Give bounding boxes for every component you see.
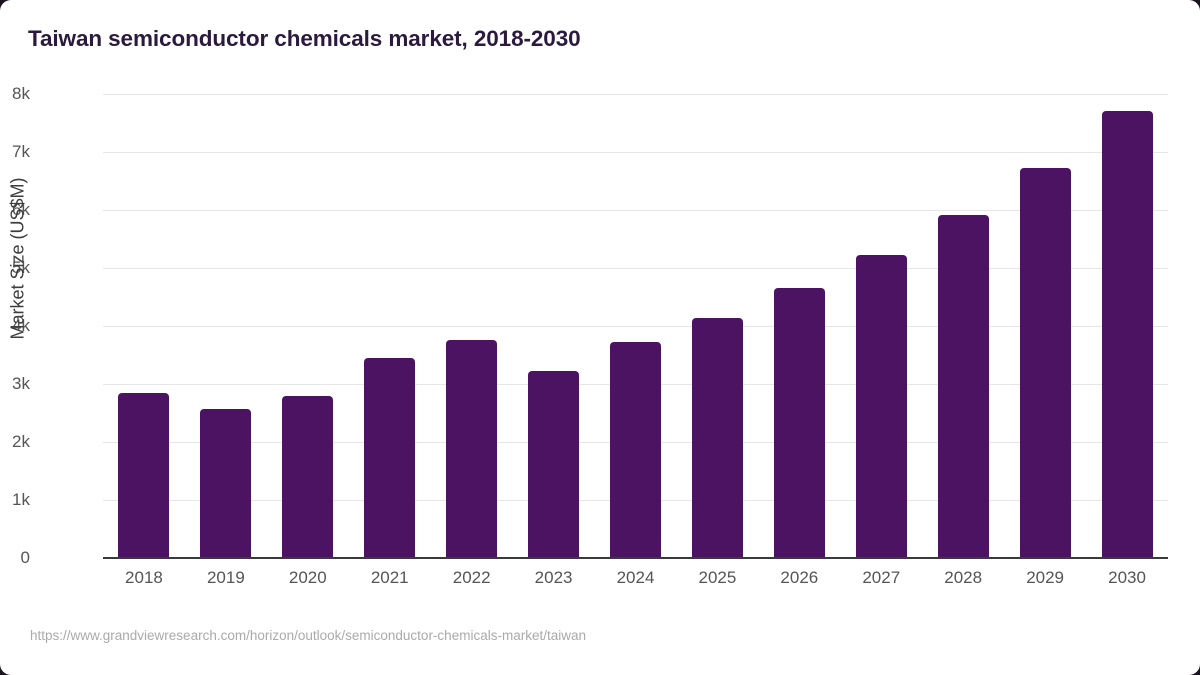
bar-slot [1086,94,1168,558]
x-tick-slot: 2028 [922,568,1004,588]
x-axis-tick-label: 2025 [699,568,737,587]
x-tick-slot: 2021 [349,568,431,588]
bar-slot [267,94,349,558]
x-tick-slot: 2027 [840,568,922,588]
bar[interactable] [118,393,169,558]
bar[interactable] [774,288,825,558]
x-tick-slot: 2018 [103,568,185,588]
x-tick-slot: 2026 [758,568,840,588]
x-axis-tick-label: 2023 [535,568,573,587]
y-axis-title: Market Size (US$M) [8,49,29,469]
x-tick-slot: 2022 [431,568,513,588]
bar-slot [185,94,267,558]
x-axis-tick-label: 2027 [862,568,900,587]
bar[interactable] [1020,168,1071,558]
bar-series [103,94,1168,558]
x-axis-tick-label: 2024 [617,568,655,587]
x-axis-tick-label: 2019 [207,568,245,587]
x-tick-slot: 2023 [513,568,595,588]
bar[interactable] [692,318,743,558]
bar-slot [595,94,677,558]
bar-slot [349,94,431,558]
bar[interactable] [364,358,415,558]
chart-canvas: Taiwan semiconductor chemicals market, 2… [0,0,1200,675]
x-tick-slot: 2020 [267,568,349,588]
source-url[interactable]: https://www.grandviewresearch.com/horizo… [30,628,586,643]
x-axis-tick-label: 2022 [453,568,491,587]
x-tick-slot: 2030 [1086,568,1168,588]
x-tick-slot: 2024 [595,568,677,588]
x-axis-tick-label: 2018 [125,568,163,587]
bar[interactable] [1102,111,1153,558]
bar-slot [676,94,758,558]
x-axis-tick-label: 2021 [371,568,409,587]
x-tick-slot: 2029 [1004,568,1086,588]
bar-slot [1004,94,1086,558]
bar[interactable] [856,255,907,558]
x-axis-tick-label: 2030 [1108,568,1146,587]
bar-slot [103,94,185,558]
bar[interactable] [200,409,251,558]
bar[interactable] [528,371,579,558]
x-axis-tick-label: 2026 [780,568,818,587]
bar[interactable] [446,340,497,558]
x-tick-slot: 2025 [676,568,758,588]
page-title: Taiwan semiconductor chemicals market, 2… [28,26,581,52]
bar[interactable] [610,342,661,558]
x-axis-tick-label: 2020 [289,568,327,587]
y-axis-tick-label: 0 [21,548,30,568]
bar-slot [431,94,513,558]
y-axis-tick-label: 1k [12,490,30,510]
bar[interactable] [938,215,989,558]
bar-slot [840,94,922,558]
x-axis-tick-labels: 2018201920202021202220232024202520262027… [103,568,1168,588]
bar-slot [513,94,595,558]
x-axis-tick-label: 2028 [944,568,982,587]
x-tick-slot: 2019 [185,568,267,588]
bar-slot [922,94,1004,558]
x-axis-line [103,557,1168,559]
x-axis-tick-label: 2029 [1026,568,1064,587]
bar[interactable] [282,396,333,558]
bar-slot [758,94,840,558]
